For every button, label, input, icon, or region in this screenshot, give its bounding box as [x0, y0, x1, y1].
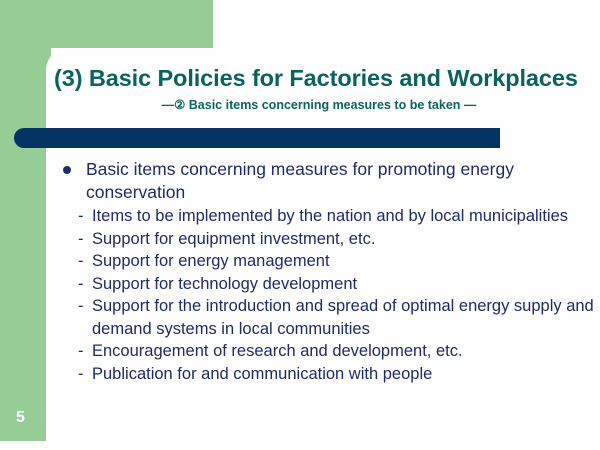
sub-bullet-label: Support for energy management [92, 250, 594, 273]
dash-marker-icon: - [78, 250, 84, 273]
list-item: Basic items concerning measures for prom… [58, 158, 594, 204]
dash-marker-icon: - [78, 228, 84, 251]
list-item: - Publication for and communication with… [58, 363, 594, 386]
slide-header: (3) Basic Policies for Factories and Wor… [46, 52, 600, 122]
sub-bullet-label: Support for equipment investment, etc. [92, 228, 594, 251]
list-item: - Support for technology development [58, 273, 594, 296]
dash-marker-icon: - [78, 340, 84, 363]
list-item: - Support for energy management [58, 250, 594, 273]
page-number: 5 [16, 409, 25, 427]
slide-body: Basic items concerning measures for prom… [58, 158, 594, 385]
list-item: - Encouragement of research and developm… [58, 340, 594, 363]
dash-marker-icon: - [78, 363, 84, 386]
green-accent-strip [0, 0, 51, 441]
bullet-label: Basic items concerning measures for prom… [86, 158, 594, 204]
list-item: - Items to be implemented by the nation … [58, 205, 594, 228]
sub-bullet-label: Items to be implemented by the nation an… [92, 205, 594, 228]
bullet-dot-icon [63, 166, 71, 174]
sub-bullet-label: Support for technology development [92, 273, 594, 296]
page-subtitle: —② Basic items concerning measures to be… [54, 97, 584, 112]
sub-bullet-label: Encouragement of research and developmen… [92, 340, 594, 363]
presentation-slide: (3) Basic Policies for Factories and Wor… [0, 0, 600, 450]
list-item: - Support for the introduction and sprea… [58, 295, 594, 340]
list-item: - Support for equipment investment, etc. [58, 228, 594, 251]
dash-marker-icon: - [78, 273, 84, 296]
sub-bullet-label: Publication for and communication with p… [92, 363, 594, 386]
dash-marker-icon: - [78, 205, 84, 228]
sub-bullet-label: Support for the introduction and spread … [92, 295, 594, 340]
header-rule-bar [14, 128, 500, 148]
sub-bullet-list: - Items to be implemented by the nation … [58, 205, 594, 385]
dash-marker-icon: - [78, 295, 84, 318]
page-title: (3) Basic Policies for Factories and Wor… [54, 65, 594, 92]
